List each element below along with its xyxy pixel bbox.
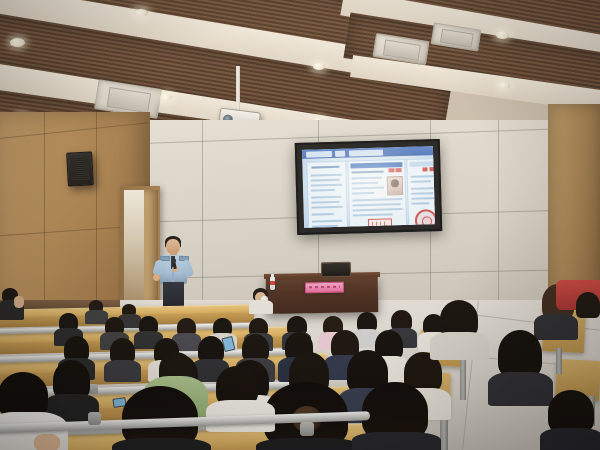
torso	[352, 432, 441, 450]
projector-mount-pole	[236, 66, 240, 113]
desk-monitor[interactable]	[321, 262, 351, 278]
wall-speaker	[66, 151, 94, 186]
torso	[249, 300, 273, 314]
doorway-opening[interactable]	[124, 190, 144, 304]
id-portrait-photo	[387, 176, 404, 195]
slide-header-bar	[409, 161, 435, 167]
audience-person-foreground	[430, 300, 490, 356]
presenter-left-hand	[153, 274, 160, 281]
audience-person-foreground	[540, 390, 600, 450]
event-placard	[305, 282, 344, 294]
browser-tab	[335, 150, 345, 156]
wall-seam	[44, 112, 45, 322]
downlight-icon	[134, 9, 148, 17]
audience-person-foreground	[0, 372, 70, 450]
torso	[430, 332, 489, 360]
projection-screen	[302, 146, 435, 228]
torso	[540, 428, 600, 450]
wall-seam	[96, 112, 97, 322]
rail-joint-cap	[88, 412, 101, 425]
audience-person	[104, 338, 142, 378]
right-wood-column	[548, 104, 600, 294]
presenter	[150, 236, 196, 308]
flag-icon	[429, 167, 434, 171]
audience-person-right-back	[576, 292, 600, 318]
official-seal-icon	[415, 209, 435, 228]
torso	[256, 438, 361, 450]
lecture-hall-photo	[0, 0, 600, 450]
warrant-red-text-block	[368, 218, 392, 227]
torso	[112, 438, 211, 450]
downlight-icon	[10, 38, 25, 47]
hair	[498, 330, 542, 378]
flag-icon	[388, 168, 394, 172]
seat-leg	[460, 360, 466, 400]
torso	[104, 360, 141, 382]
flag-icon	[395, 168, 401, 172]
wall-seam	[498, 120, 499, 320]
browser-tab	[349, 149, 383, 156]
downlight-icon	[498, 82, 510, 89]
projection-screen-frame	[295, 139, 443, 235]
hand	[34, 434, 60, 450]
seat-leg	[556, 348, 562, 374]
flag-icon	[422, 167, 427, 171]
placard-text	[309, 286, 340, 289]
slide-left-column	[306, 161, 348, 228]
downlight-icon	[160, 94, 172, 101]
presenter-trousers	[163, 282, 184, 308]
slide-right-column	[406, 158, 435, 228]
audience-person	[248, 288, 274, 312]
browser-tab	[306, 151, 332, 158]
audience-person	[0, 288, 28, 318]
rail-joint-cap	[300, 422, 314, 436]
downlight-icon	[496, 31, 509, 39]
raised-hand	[14, 296, 24, 308]
presenter-desk	[266, 275, 379, 314]
slide-center-column	[347, 159, 407, 228]
downlight-icon	[313, 63, 325, 70]
wall-seam	[0, 122, 149, 139]
wall-seam	[202, 120, 203, 320]
